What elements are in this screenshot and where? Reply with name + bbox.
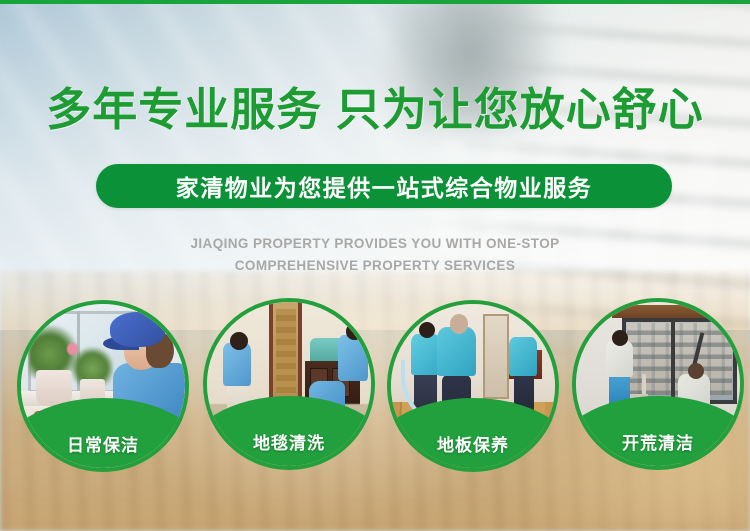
service-label: 日常保洁 (21, 431, 185, 456)
page-title: 多年专业服务 只为让您放心舒心 (0, 82, 750, 138)
subtitle-line-1: JIAQING PROPERTY PROVIDES YOU WITH ONE-S… (0, 233, 750, 255)
promo-banner: 多年专业服务 只为让您放心舒心 家清物业为您提供一站式综合物业服务 JIAQIN… (0, 0, 750, 531)
service-label: 地板保养 (391, 431, 555, 456)
service-circle-post-renovation-cleaning[interactable]: 开荒清洁 (572, 298, 744, 470)
service-label: 地毯清洗 (207, 429, 371, 454)
subtitle-line-2: COMPREHENSIVE PROPERTY SERVICES (0, 255, 750, 277)
service-circle-carpet-washing[interactable]: 地毯清洗 (203, 298, 375, 470)
service-circle-daily-cleaning[interactable]: 日常保洁 (17, 300, 189, 472)
tagline-pill: 家清物业为您提供一站式综合物业服务 (96, 164, 672, 208)
top-green-rule (0, 0, 750, 4)
service-circle-floor-maintenance[interactable]: 地板保养 (387, 300, 559, 472)
service-circle-row: 日常保洁 地毯清洗 (0, 298, 750, 488)
service-label: 开荒清洁 (576, 429, 740, 454)
tagline-text: 家清物业为您提供一站式综合物业服务 (176, 169, 593, 203)
subtitle-english: JIAQING PROPERTY PROVIDES YOU WITH ONE-S… (0, 233, 750, 277)
